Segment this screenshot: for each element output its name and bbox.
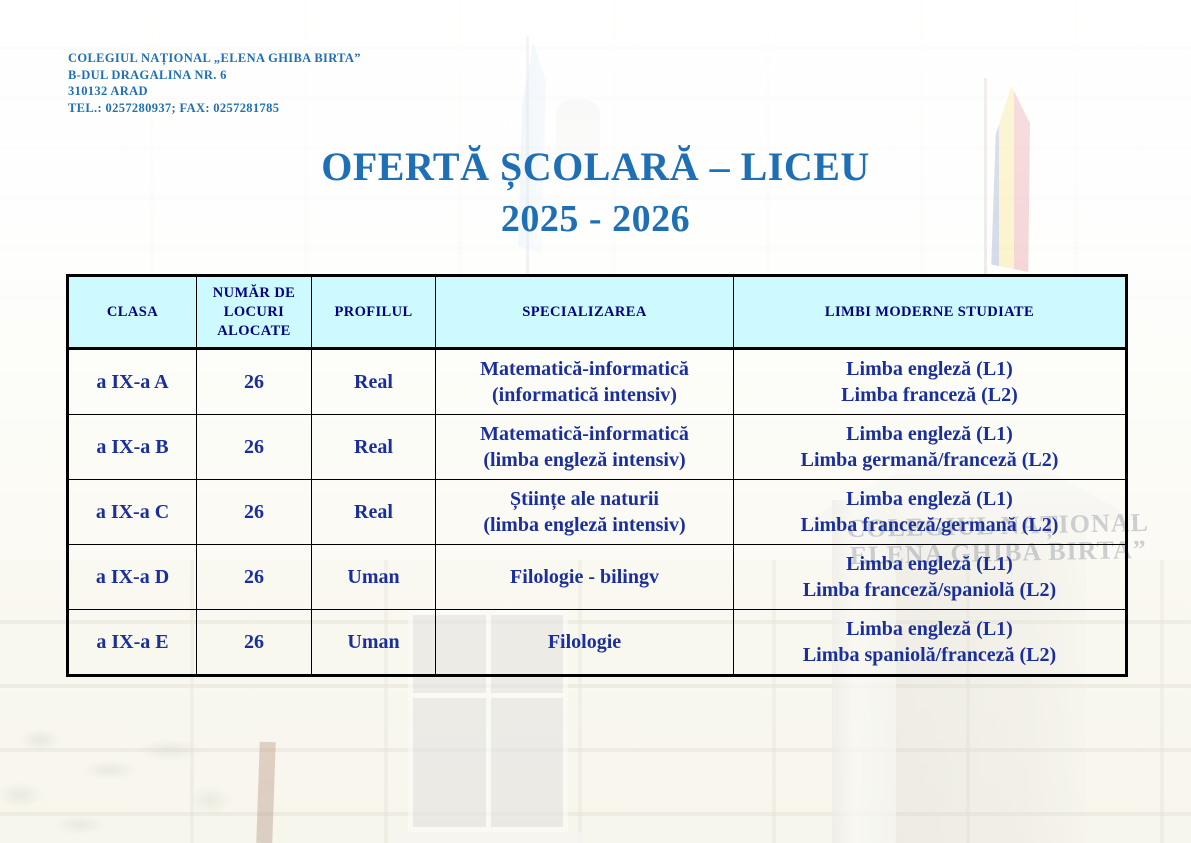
cell-limbi-line-1: Limba engleză (L1) <box>738 356 1121 382</box>
table-row: a IX-a C 26 Real Științe ale naturii (li… <box>68 480 1127 545</box>
column-header-clasa: CLASA <box>68 276 197 349</box>
cell-specializare-line-1: Științe ale naturii <box>440 486 729 512</box>
cell-specializare-line-1: Matematică-informatică <box>440 356 729 382</box>
cell-specializare-line-1: Filologie - bilingv <box>440 564 729 590</box>
cell-limbi-line-1: Limba engleză (L1) <box>738 486 1121 512</box>
table-row: a IX-a B 26 Real Matematică-informatică … <box>68 415 1127 480</box>
cell-specializare: Matematică-informatică (limba engleză in… <box>436 415 734 480</box>
cell-locuri: 26 <box>197 480 312 545</box>
school-name: COLEGIUL NAȚIONAL „ELENA GHIBA BIRTA” <box>68 50 361 67</box>
cell-limbi-line-1: Limba engleză (L1) <box>738 551 1121 577</box>
cell-limbi: Limba engleză (L1) Limba franceză/german… <box>734 480 1127 545</box>
table-row: a IX-a A 26 Real Matematică-informatică … <box>68 349 1127 415</box>
cell-limbi: Limba engleză (L1) Limba franceză (L2) <box>734 349 1127 415</box>
page-title-line-2: 2025 - 2026 <box>0 193 1191 245</box>
cell-profil: Real <box>312 480 436 545</box>
cell-locuri: 26 <box>197 610 312 676</box>
table-body: a IX-a A 26 Real Matematică-informatică … <box>68 349 1127 676</box>
school-offer-table: CLASA NUMĂR DE LOCURI ALOCATE PROFILUL S… <box>66 274 1128 677</box>
column-header-locuri-line-3: ALOCATE <box>201 322 307 341</box>
column-header-numar-locuri-alocate: NUMĂR DE LOCURI ALOCATE <box>197 276 312 349</box>
cell-profil: Real <box>312 349 436 415</box>
table-row: a IX-a E 26 Uman Filologie Limba engleză… <box>68 610 1127 676</box>
cell-profil: Real <box>312 415 436 480</box>
column-header-locuri-line-1: NUMĂR DE <box>201 284 307 303</box>
school-contact: TEL.: 0257280937; FAX: 0257281785 <box>68 100 361 117</box>
cell-locuri: 26 <box>197 415 312 480</box>
cell-limbi: Limba engleză (L1) Limba germană/francez… <box>734 415 1127 480</box>
cell-profil: Uman <box>312 545 436 610</box>
cell-limbi-line-1: Limba engleză (L1) <box>738 616 1121 642</box>
cell-clasa: a IX-a C <box>68 480 197 545</box>
cell-profil: Uman <box>312 610 436 676</box>
cell-limbi-line-2: Limba franceză/germană (L2) <box>738 512 1121 538</box>
cell-specializare: Filologie <box>436 610 734 676</box>
cell-limbi-line-1: Limba engleză (L1) <box>738 421 1121 447</box>
cell-specializare-line-2: (limba engleză intensiv) <box>440 447 729 473</box>
cell-specializare-line-1: Filologie <box>440 629 729 655</box>
column-header-profilul: PROFILUL <box>312 276 436 349</box>
table-header-row: CLASA NUMĂR DE LOCURI ALOCATE PROFILUL S… <box>68 276 1127 349</box>
column-header-specializarea: SPECIALIZAREA <box>436 276 734 349</box>
cell-specializare: Științe ale naturii (limba engleză inten… <box>436 480 734 545</box>
cell-specializare: Filologie - bilingv <box>436 545 734 610</box>
school-header-block: COLEGIUL NAȚIONAL „ELENA GHIBA BIRTA” B-… <box>68 50 361 116</box>
cell-clasa: a IX-a B <box>68 415 197 480</box>
cell-limbi-line-2: Limba franceză (L2) <box>738 382 1121 408</box>
cell-specializare-line-2: (informatică intensiv) <box>440 382 729 408</box>
cell-specializare: Matematică-informatică (informatică inte… <box>436 349 734 415</box>
cell-clasa: a IX-a E <box>68 610 197 676</box>
column-header-limbi-moderne-studiate: LIMBI MODERNE STUDIATE <box>734 276 1127 349</box>
column-header-locuri-line-2: LOCURI <box>201 303 307 322</box>
school-address: B-DUL DRAGALINA NR. 6 <box>68 67 361 84</box>
school-postal-city: 310132 ARAD <box>68 83 361 100</box>
page-title-line-1: OFERTĂ ȘCOLARĂ – LICEU <box>0 141 1191 193</box>
cell-locuri: 26 <box>197 545 312 610</box>
cell-limbi: Limba engleză (L1) Limba franceză/spanio… <box>734 545 1127 610</box>
cell-clasa: a IX-a D <box>68 545 197 610</box>
table-header: CLASA NUMĂR DE LOCURI ALOCATE PROFILUL S… <box>68 276 1127 349</box>
table-row: a IX-a D 26 Uman Filologie - bilingv Lim… <box>68 545 1127 610</box>
cell-locuri: 26 <box>197 349 312 415</box>
cell-specializare-line-1: Matematică-informatică <box>440 421 729 447</box>
cell-limbi-line-2: Limba germană/franceză (L2) <box>738 447 1121 473</box>
cell-limbi-line-2: Limba spaniolă/franceză (L2) <box>738 642 1121 668</box>
page-title: OFERTĂ ȘCOLARĂ – LICEU 2025 - 2026 <box>0 141 1191 245</box>
cell-clasa: a IX-a A <box>68 349 197 415</box>
cell-limbi: Limba engleză (L1) Limba spaniolă/france… <box>734 610 1127 676</box>
poster-page: COLEGIUL NAȚIONAL ELENA GHIBA BIRTA” COL… <box>0 0 1191 843</box>
cell-limbi-line-2: Limba franceză/spaniolă (L2) <box>738 577 1121 603</box>
cell-specializare-line-2: (limba engleză intensiv) <box>440 512 729 538</box>
